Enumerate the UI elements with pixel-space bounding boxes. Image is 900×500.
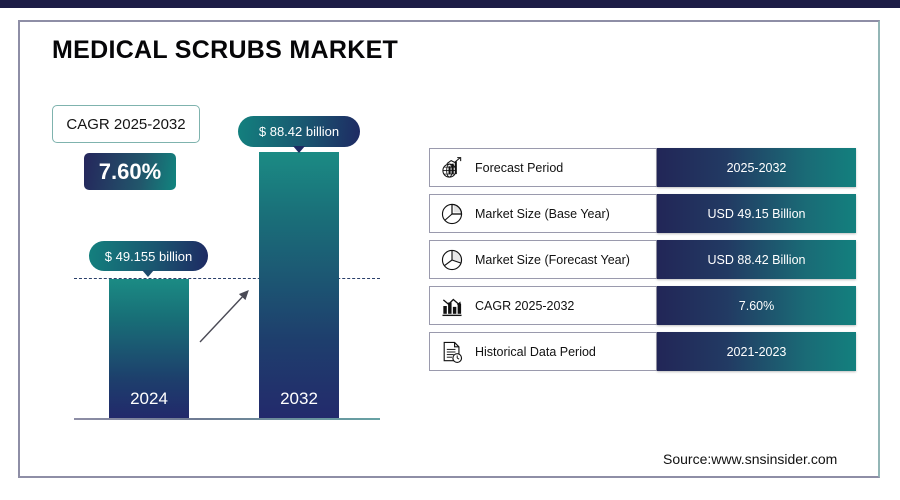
spec-label-text: Forecast Period [475, 161, 563, 175]
pie-chart-icon [437, 199, 467, 229]
spec-label-text: CAGR 2025-2032 [475, 299, 574, 313]
spec-value-text: 2025-2032 [727, 161, 787, 175]
callout-forecast-year: $ 88.42 billion [238, 116, 360, 147]
spec-label-cell: Historical Data Period [429, 332, 657, 371]
bar-label-2024: 2024 [130, 389, 168, 409]
spec-label-text: Historical Data Period [475, 345, 596, 359]
globe-growth-chart-icon [437, 153, 467, 183]
spec-value-cell: 2021-2023 [657, 332, 856, 371]
spec-value-text: 2021-2023 [727, 345, 787, 359]
pie-chart-thirds-icon [437, 245, 467, 275]
top-accent-bar [0, 0, 900, 8]
spec-value-text: 7.60% [739, 299, 774, 313]
table-row: Historical Data Period 2021-2023 [429, 332, 856, 371]
bar-2024: 2024 [109, 279, 189, 418]
cagr-value-badge: 7.60% [84, 153, 176, 190]
table-row: Market Size (Base Year) USD 49.15 Billio… [429, 194, 856, 233]
spec-label-cell: Market Size (Base Year) [429, 194, 657, 233]
spec-value-cell: 7.60% [657, 286, 856, 325]
document-clock-icon [437, 337, 467, 367]
spec-label-cell: CAGR 2025-2032 [429, 286, 657, 325]
callout-base-year: $ 49.155 billion [89, 241, 208, 271]
spec-value-text: USD 49.15 Billion [708, 207, 806, 221]
spec-label-text: Market Size (Forecast Year) [475, 253, 630, 267]
bar-2032: 2032 [259, 152, 339, 418]
source-attribution: Source:www.snsinsider.com [663, 451, 837, 467]
infographic-canvas: MEDICAL SCRUBS MARKET CAGR 2025-2032 7.6… [0, 0, 900, 500]
chart-baseline-axis [74, 418, 380, 420]
bar-label-2032: 2032 [280, 389, 318, 409]
bar-chart-trend-icon [437, 291, 467, 321]
spec-table: Forecast Period 2025-2032 M [429, 148, 856, 378]
cagr-label-text: CAGR 2025-2032 [66, 116, 185, 133]
spec-value-text: USD 88.42 Billion [708, 253, 806, 267]
spec-value-cell: USD 49.15 Billion [657, 194, 856, 233]
cagr-value-text: 7.60% [99, 159, 161, 185]
spec-label-text: Market Size (Base Year) [475, 207, 610, 221]
spec-label-cell: Forecast Period [429, 148, 657, 187]
callout-base-year-pointer [142, 270, 154, 277]
spec-label-cell: Market Size (Forecast Year) [429, 240, 657, 279]
table-row: Market Size (Forecast Year) USD 88.42 Bi… [429, 240, 856, 279]
table-row: CAGR 2025-2032 7.60% [429, 286, 856, 325]
callout-forecast-year-text: $ 88.42 billion [259, 124, 339, 139]
callout-base-year-text: $ 49.155 billion [105, 249, 192, 264]
spec-value-cell: USD 88.42 Billion [657, 240, 856, 279]
cagr-label-box: CAGR 2025-2032 [52, 105, 200, 143]
growth-arrow-icon [196, 284, 256, 346]
page-title: MEDICAL SCRUBS MARKET [52, 36, 398, 65]
spec-value-cell: 2025-2032 [657, 148, 856, 187]
table-row: Forecast Period 2025-2032 [429, 148, 856, 187]
callout-forecast-year-pointer [293, 146, 305, 153]
